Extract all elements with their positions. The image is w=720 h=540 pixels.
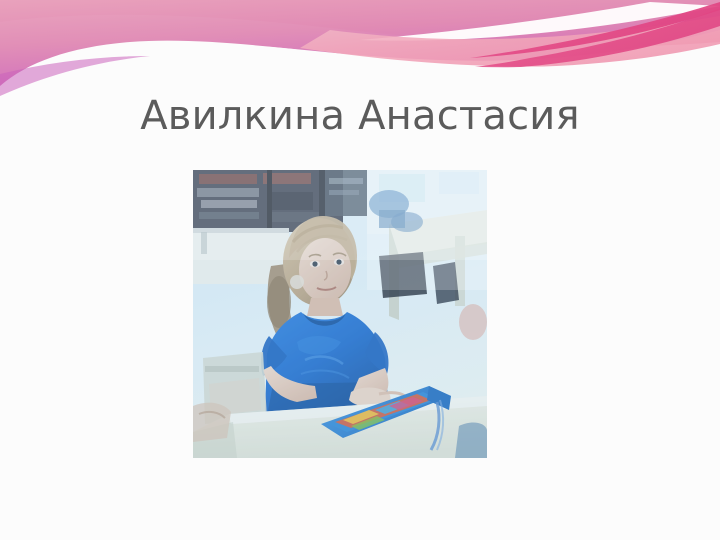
- wave-magenta-sweep: [0, 0, 720, 86]
- student-photo-image: [193, 170, 487, 458]
- presentation-slide: Авилкина Анастасия: [0, 0, 720, 540]
- wave-white-sliver: [360, 2, 720, 41]
- page-title: Авилкина Анастасия: [0, 92, 720, 140]
- wave-left-tail: [0, 56, 150, 96]
- student-photo: [193, 170, 487, 458]
- wave-crimson-ribbon: [450, 8, 720, 70]
- wave-crimson-ribbon-upper: [470, 2, 720, 58]
- wave-upper-fill: [0, 0, 720, 46]
- wave-rose-band: [300, 16, 720, 67]
